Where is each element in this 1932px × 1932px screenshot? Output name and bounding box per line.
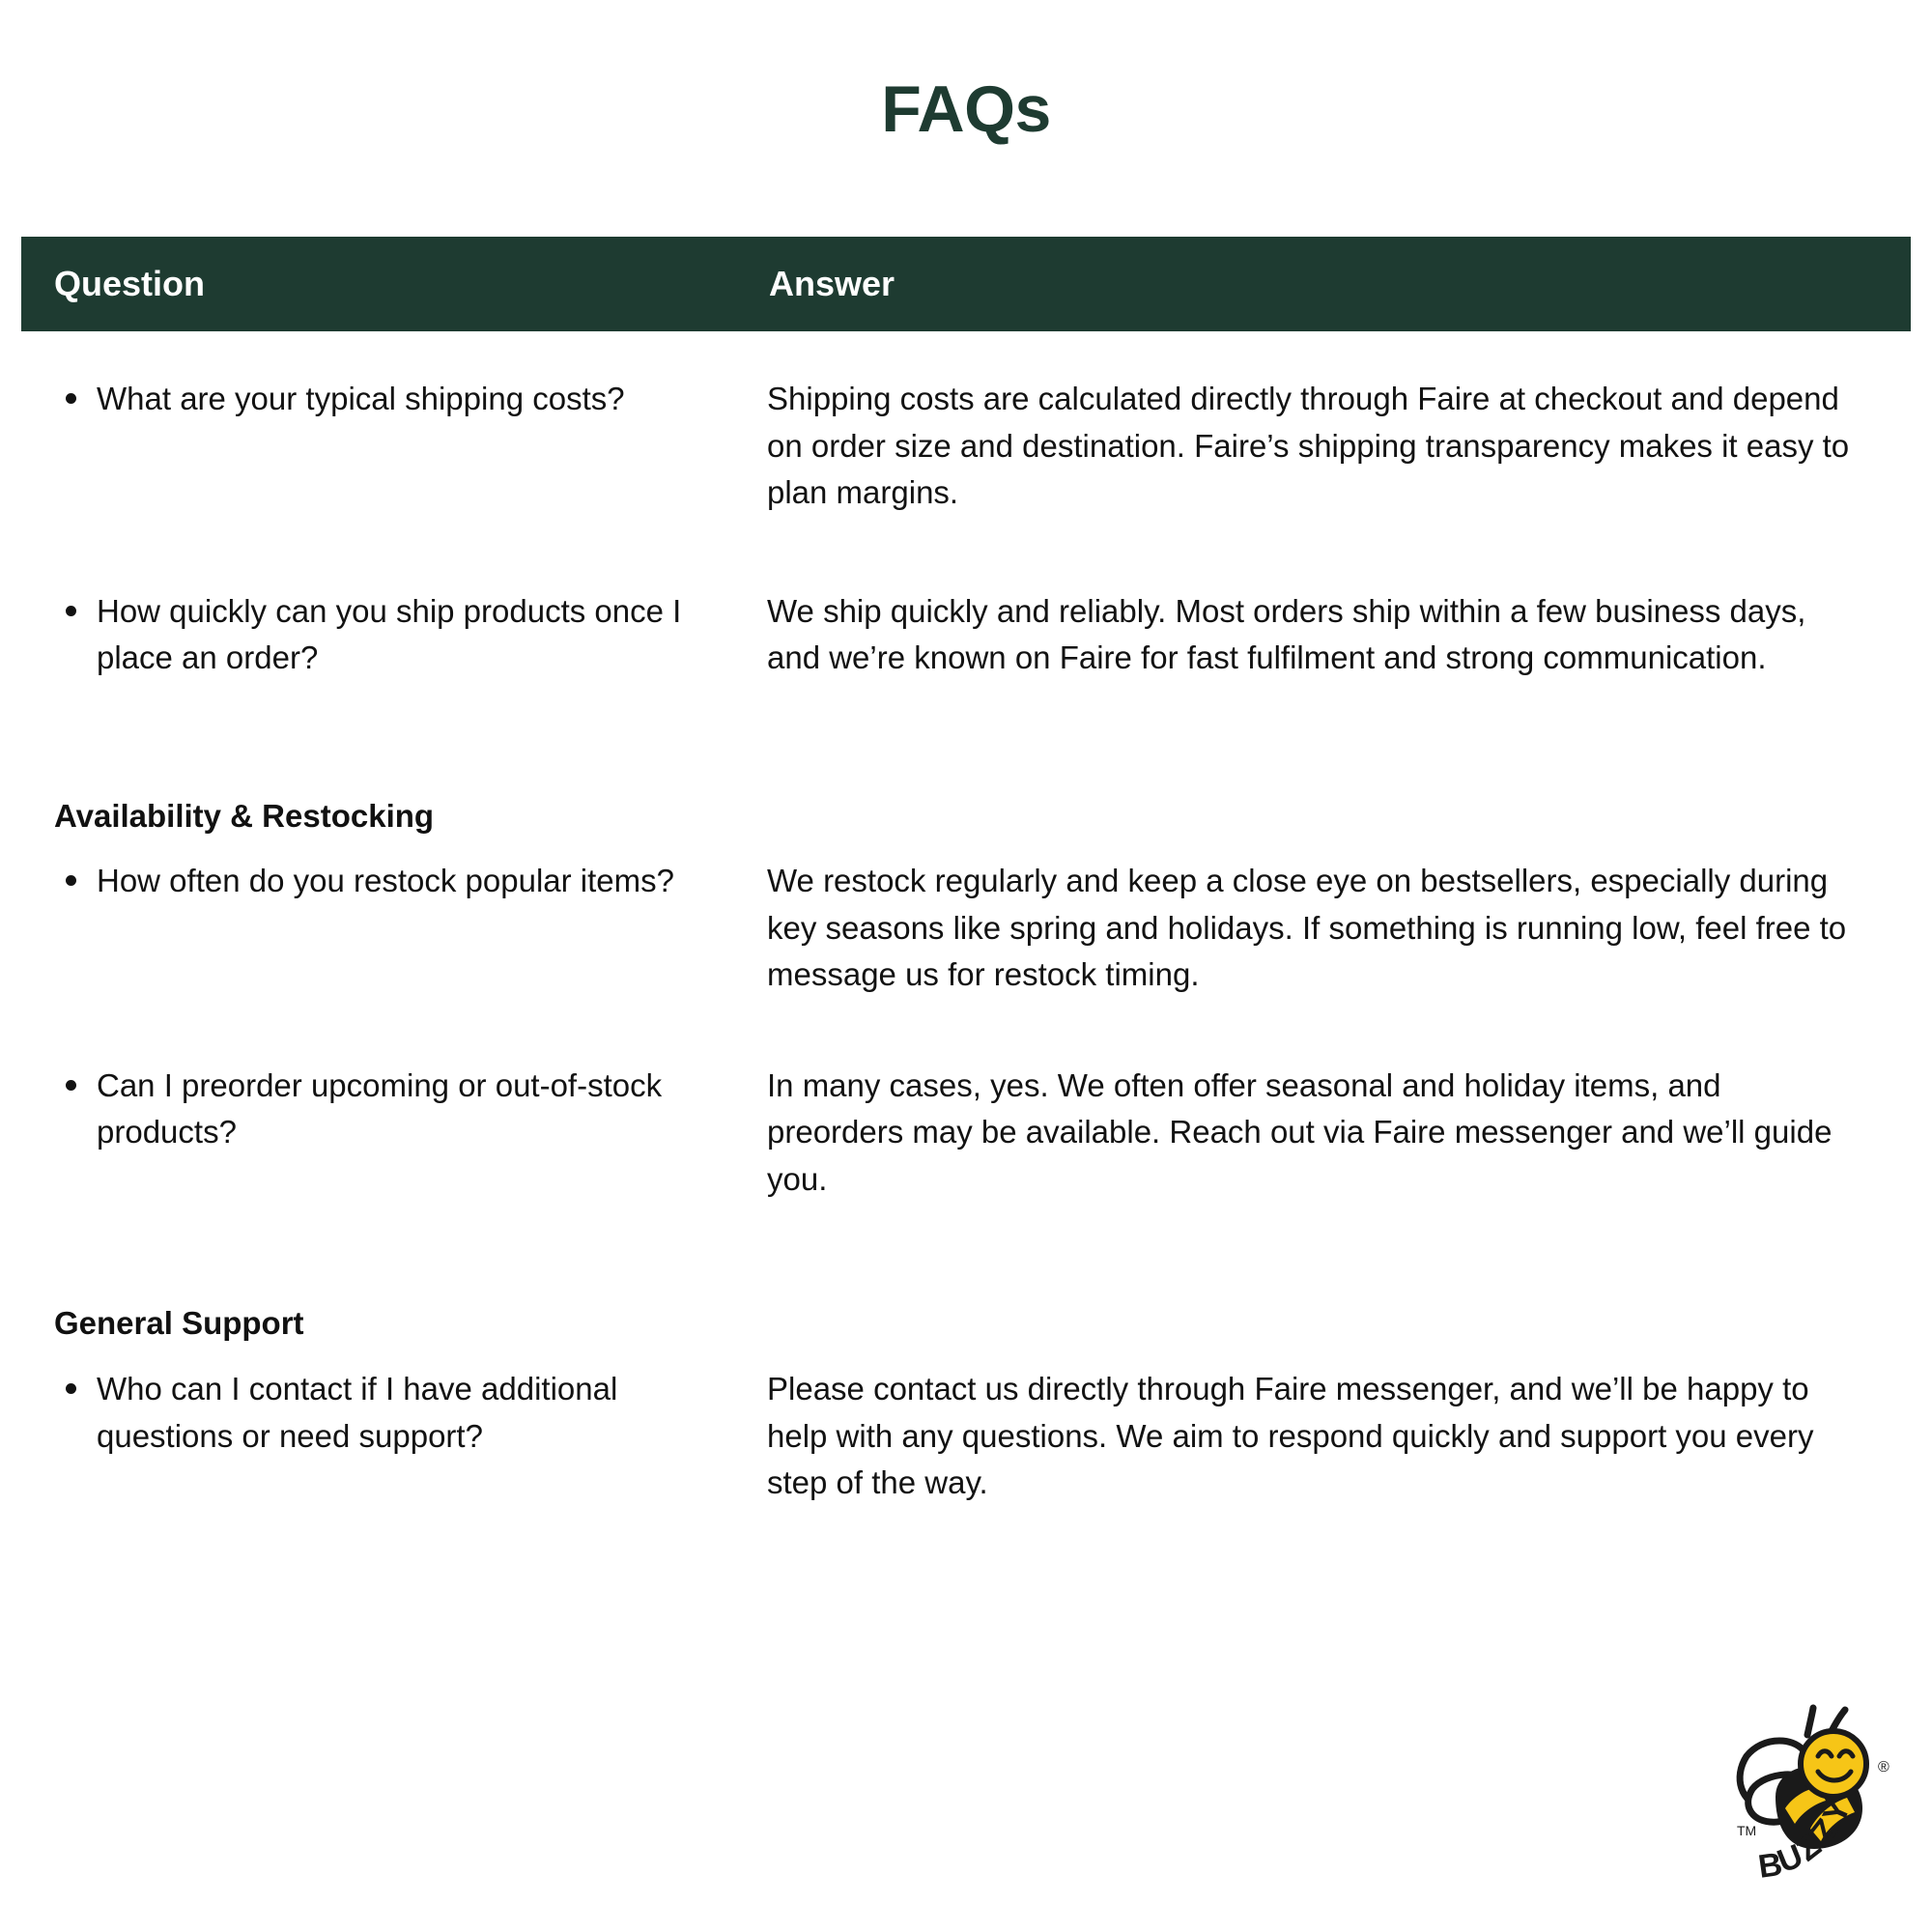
- column-header-answer: Answer: [767, 267, 1911, 301]
- question-text: How often do you restock popular items?: [97, 863, 674, 898]
- question-bullet-item: How often do you restock popular items?: [54, 858, 738, 905]
- question-text: How quickly can you ship products once I…: [97, 593, 681, 676]
- question-bullet-item: Can I preorder upcoming or out-of-stock …: [54, 1063, 738, 1156]
- answer-cell: Please contact us directly through Faire…: [767, 1366, 1911, 1507]
- section-header-row: Availability & Restocking: [21, 796, 1911, 838]
- bullet-icon: [66, 1383, 76, 1394]
- buzzy-bee-logo-icon: ® TM B U Z Z Y: [1718, 1689, 1911, 1891]
- section-label-availability-restocking: Availability & Restocking: [54, 796, 738, 838]
- answer-text: Shipping costs are calculated directly t…: [767, 376, 1853, 517]
- question-cell: General Support: [21, 1303, 767, 1345]
- question-cell: What are your typical shipping costs?: [21, 376, 767, 423]
- answer-cell: We ship quickly and reliably. Most order…: [767, 588, 1911, 682]
- question-cell: Can I preorder upcoming or out-of-stock …: [21, 1063, 767, 1156]
- question-cell: How quickly can you ship products once I…: [21, 588, 767, 682]
- question-cell: Who can I contact if I have additional q…: [21, 1366, 767, 1460]
- section-header-row: General Support: [21, 1303, 1911, 1345]
- column-header-question: Question: [21, 267, 767, 301]
- table-row: How often do you restock popular items? …: [21, 858, 1911, 999]
- question-text: Can I preorder upcoming or out-of-stock …: [97, 1067, 662, 1151]
- answer-text: Please contact us directly through Faire…: [767, 1366, 1853, 1507]
- answer-text: We restock regularly and keep a close ey…: [767, 858, 1853, 999]
- bullet-icon: [66, 606, 76, 616]
- question-text: Who can I contact if I have additional q…: [97, 1371, 617, 1454]
- bullet-icon: [66, 875, 76, 886]
- faq-table: Question Answer What are your typical sh…: [21, 237, 1911, 1507]
- page-title: FAQs: [881, 75, 1051, 144]
- bullet-icon: [66, 1080, 76, 1091]
- buzzy-logo: ® TM B U Z Z Y: [1718, 1689, 1911, 1891]
- bullet-icon: [66, 393, 76, 404]
- answer-cell: Shipping costs are calculated directly t…: [767, 376, 1911, 517]
- faq-page: FAQs Question Answer What are your typic…: [0, 0, 1932, 1932]
- question-bullet-item: What are your typical shipping costs?: [54, 376, 738, 423]
- page-title-container: FAQs: [0, 0, 1932, 144]
- question-cell: Availability & Restocking: [21, 796, 767, 838]
- question-bullet-item: How quickly can you ship products once I…: [54, 588, 738, 682]
- question-text: What are your typical shipping costs?: [97, 381, 625, 416]
- table-header-row: Question Answer: [21, 237, 1911, 331]
- table-row: How quickly can you ship products once I…: [21, 588, 1911, 682]
- answer-cell: We restock regularly and keep a close ey…: [767, 858, 1911, 999]
- question-cell: How often do you restock popular items?: [21, 858, 767, 905]
- section-label-general-support: General Support: [54, 1303, 738, 1345]
- registered-mark: ®: [1878, 1759, 1889, 1776]
- table-row: What are your typical shipping costs? Sh…: [21, 376, 1911, 517]
- answer-text: We ship quickly and reliably. Most order…: [767, 588, 1853, 682]
- question-bullet-item: Who can I contact if I have additional q…: [54, 1366, 738, 1460]
- table-body: What are your typical shipping costs? Sh…: [21, 331, 1911, 1507]
- answer-text: In many cases, yes. We often offer seaso…: [767, 1063, 1853, 1204]
- answer-cell: In many cases, yes. We often offer seaso…: [767, 1063, 1911, 1204]
- table-row: Who can I contact if I have additional q…: [21, 1366, 1911, 1507]
- trademark-mark: TM: [1737, 1823, 1756, 1838]
- table-row: Can I preorder upcoming or out-of-stock …: [21, 1063, 1911, 1204]
